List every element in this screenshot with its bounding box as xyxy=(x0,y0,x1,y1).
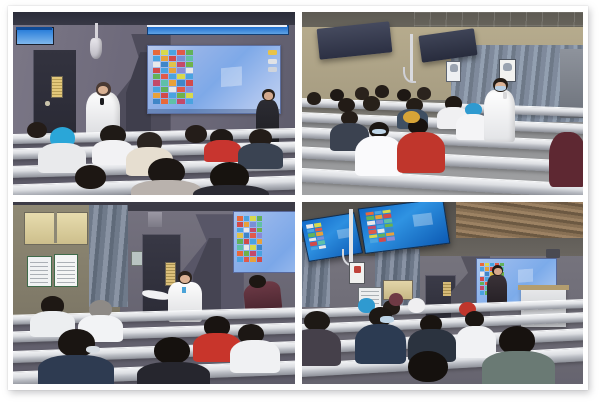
audience-body xyxy=(482,351,555,384)
door-knob-icon xyxy=(45,101,50,105)
face-mask-icon xyxy=(86,346,100,353)
microphone-icon xyxy=(503,92,508,99)
window-mullion xyxy=(54,212,57,243)
lectern-top xyxy=(518,285,569,290)
desktop-icon-grid xyxy=(365,210,395,243)
audience-body xyxy=(549,132,583,187)
audience-head xyxy=(338,98,355,113)
audience-body xyxy=(397,132,445,172)
desktop-icon-right-1 xyxy=(268,50,277,55)
certificate-photo xyxy=(503,63,512,71)
certificate-emblem-icon xyxy=(354,266,361,273)
notice-board-2 xyxy=(54,254,79,287)
audience-head xyxy=(185,125,208,143)
audience-head xyxy=(363,96,380,111)
wood-slat-ceiling xyxy=(456,202,583,239)
face-mask-icon xyxy=(380,316,394,322)
projection-screen xyxy=(233,211,295,273)
audience-body xyxy=(38,355,114,384)
photo-card xyxy=(8,6,588,390)
door-window xyxy=(51,76,63,98)
audience-head xyxy=(154,337,191,364)
audience-head xyxy=(304,311,329,331)
notice-text-lines xyxy=(30,261,48,283)
presenter-face xyxy=(180,275,190,283)
audience-body xyxy=(204,140,241,162)
audience-head xyxy=(389,293,403,306)
door-window xyxy=(443,282,450,297)
audience-body xyxy=(230,340,281,373)
small-monitor-titlebar xyxy=(16,27,53,31)
overhead-display-titlebar xyxy=(147,25,288,28)
audience-body xyxy=(137,362,210,384)
audience-body xyxy=(355,324,406,364)
audience-head xyxy=(403,111,420,124)
bystander-face xyxy=(264,92,272,99)
audience-body xyxy=(456,326,495,359)
lanyard-badge-icon xyxy=(182,287,187,292)
audience-head xyxy=(27,122,47,138)
desktop-icon-grid xyxy=(237,216,262,262)
collage-root xyxy=(0,0,602,402)
audience-body xyxy=(131,180,201,195)
photo-panel-top-left[interactable] xyxy=(13,12,295,195)
projector-icon xyxy=(546,249,560,258)
audience-body xyxy=(193,185,269,194)
presenter-face xyxy=(494,268,502,275)
desktop-icon-right-3 xyxy=(268,67,277,72)
photo-panel-top-right[interactable] xyxy=(302,12,584,195)
ceiling-vent xyxy=(148,212,162,227)
audience-body xyxy=(302,329,341,366)
audience-head xyxy=(408,298,425,313)
audience-body xyxy=(238,143,283,169)
windows-logo-watermark-icon xyxy=(412,213,432,226)
certificate-photo xyxy=(450,64,458,72)
photo-panel-bottom-right[interactable] xyxy=(302,202,584,385)
notice-board-1 xyxy=(27,256,52,287)
audience-head xyxy=(75,165,106,189)
desktop-icon-grid xyxy=(306,223,326,251)
windows-logo-watermark-icon xyxy=(221,66,249,94)
notice-text-lines xyxy=(57,259,75,283)
wall-certificate xyxy=(349,262,365,284)
desktop-icon-grid xyxy=(153,50,193,104)
window-curtain xyxy=(89,205,128,307)
audience-head xyxy=(408,351,447,382)
desktop-icon-right-2 xyxy=(268,59,277,64)
audience-head xyxy=(417,87,431,100)
collage-grid xyxy=(13,12,583,384)
audience-body xyxy=(355,136,403,176)
audience-head xyxy=(307,92,321,105)
photo-panel-bottom-left[interactable] xyxy=(13,202,295,385)
wall-certificate-1 xyxy=(446,61,461,81)
audience-head xyxy=(375,85,389,98)
microphone-icon xyxy=(100,98,104,105)
face-mask-icon xyxy=(372,129,386,134)
speaker-body xyxy=(484,90,515,141)
